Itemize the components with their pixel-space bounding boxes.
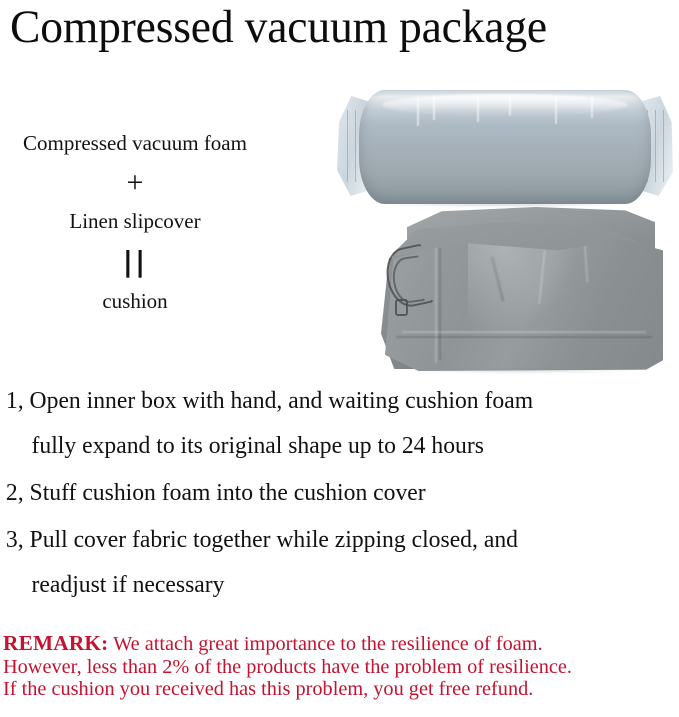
step-item-2: 2, Stuff cushion foam into the cushion c… (0, 478, 669, 509)
product-instruction-graphic: Compressed vacuum package Compressed vac… (0, 0, 679, 717)
cushion-formula-block: Compressed vacuum foam + Linen slipcover… (0, 128, 270, 316)
step-text-1: Open inner box with hand, and waiting cu… (30, 388, 534, 414)
remark-text-line-1: We attach great importance to the resili… (113, 633, 542, 655)
equals-operator-icon: || (0, 244, 270, 280)
remark-first-line: REMARK: We attach great importance to th… (3, 632, 672, 656)
step-continuation-3: readjust if necessary (6, 570, 669, 601)
step-text-2: Stuff cushion foam into the cushion cove… (30, 480, 426, 506)
step-item-1: 1, Open inner box with hand, and waiting… (0, 386, 669, 462)
slipcover-photo (381, 207, 667, 372)
instruction-steps: 1, Open inner box with hand, and waiting… (0, 386, 679, 617)
step-text-3: Pull cover fabric together while zipping… (30, 527, 518, 553)
fabric-front-panel (385, 237, 663, 371)
remark-block: REMARK: We attach great importance to th… (3, 632, 672, 701)
zipper-pull-icon (395, 299, 408, 316)
plus-operator-icon: + (0, 164, 270, 202)
compressed-foam-roll (359, 90, 651, 204)
step-number-1: 1, (6, 388, 24, 414)
formula-component-slipcover: Linen slipcover (0, 206, 270, 236)
remark-text-line-2: However, less than 2% of the products ha… (3, 656, 672, 679)
cover-shadow (405, 367, 643, 374)
formula-result-cushion: cushion (0, 286, 270, 316)
remark-text-line-3: If the cushion you received has this pro… (3, 678, 672, 701)
step-item-3: 3, Pull cover fabric together while zipp… (0, 525, 669, 601)
step-number-3: 3, (6, 527, 24, 553)
step-number-2: 2, (6, 480, 24, 506)
remark-label: REMARK: (3, 631, 108, 655)
formula-component-foam: Compressed vacuum foam (0, 128, 270, 158)
step-continuation-1: fully expand to its original shape up to… (6, 431, 669, 462)
page-title: Compressed vacuum package (10, 0, 650, 56)
vacuum-roll-photo (337, 88, 673, 206)
